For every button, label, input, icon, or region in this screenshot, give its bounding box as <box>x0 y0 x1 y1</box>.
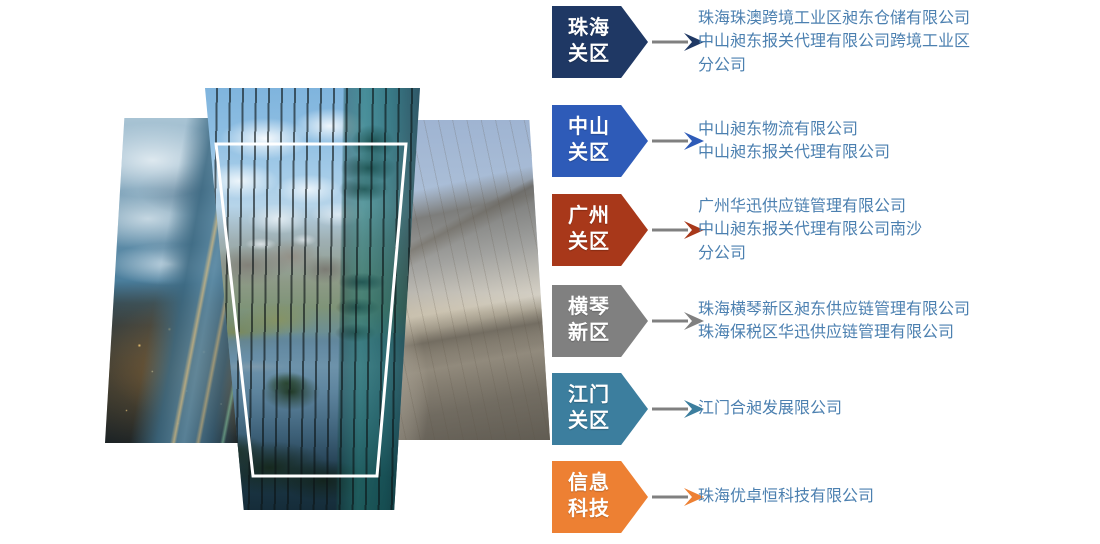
zone-badge-line-2: 关区 <box>568 230 610 256</box>
zone-badge-hengqin[interactable]: 横琴 新区 <box>552 285 648 357</box>
company-item: 中山昶东报关代理有限公司跨境工业区 <box>698 30 1098 53</box>
company-list-information-technology: 珠海优卓恒科技有限公司 <box>698 461 1098 533</box>
company-item: 广州华迅供应链管理有限公司 <box>698 195 1098 218</box>
company-item: 江门合昶发展限公司 <box>698 397 1098 420</box>
company-item: 中山昶东报关代理有限公司 <box>698 141 1098 164</box>
zone-badge-information-technology[interactable]: 信息 科技 <box>552 461 648 533</box>
company-list-guangzhou: 广州华迅供应链管理有限公司 中山昶东报关代理有限公司南沙 分公司 <box>698 187 1098 273</box>
company-item: 珠海珠澳跨境工业区昶东仓储有限公司 <box>698 7 1098 30</box>
company-list-hengqin: 珠海横琴新区昶东供应链管理有限公司 珠海保税区华迅供应链管理有限公司 <box>698 285 1098 357</box>
zone-badge-jiangmen[interactable]: 江门 关区 <box>552 373 648 445</box>
company-item: 分公司 <box>698 242 1098 265</box>
photo-collage <box>0 0 545 544</box>
zone-badge-line-2: 科技 <box>568 497 610 523</box>
zone-row-hengqin: 横琴 新区 珠海横琴新区昶东供应链管理有限公司 珠海保税区华迅供应链管理有限公司 <box>552 285 1100 357</box>
zone-badge-guangzhou[interactable]: 广州 关区 <box>552 194 648 266</box>
zone-badge-line-2: 关区 <box>568 409 610 435</box>
company-item: 分公司 <box>698 54 1098 77</box>
company-item: 珠海横琴新区昶东供应链管理有限公司 <box>698 298 1098 321</box>
zone-badge-line-1: 信息 <box>568 471 610 497</box>
zone-row-jiangmen: 江门 关区 江门合昶发展限公司 <box>552 373 1100 445</box>
zone-badge-line-2: 关区 <box>568 42 610 68</box>
zone-badge-line-2: 新区 <box>568 321 610 347</box>
zone-badge-line-2: 关区 <box>568 141 610 167</box>
zone-row-zhuhai: 珠海 关区 珠海珠澳跨境工业区昶东仓储有限公司 中山昶东报关代理有限公司跨境工业… <box>552 6 1100 78</box>
zone-badge-zhongshan[interactable]: 中山 关区 <box>552 105 648 177</box>
company-list-zhuhai: 珠海珠澳跨境工业区昶东仓储有限公司 中山昶东报关代理有限公司跨境工业区 分公司 <box>698 0 1098 85</box>
company-item: 珠海保税区华迅供应链管理有限公司 <box>698 321 1098 344</box>
company-item: 中山昶东物流有限公司 <box>698 118 1098 141</box>
zone-row-information-technology: 信息 科技 珠海优卓恒科技有限公司 <box>552 461 1100 533</box>
zone-badge-line-1: 中山 <box>568 115 610 141</box>
customs-zone-list: 珠海 关区 珠海珠澳跨境工业区昶东仓储有限公司 中山昶东报关代理有限公司跨境工业… <box>552 0 1100 544</box>
zone-row-guangzhou: 广州 关区 广州华迅供应链管理有限公司 中山昶东报关代理有限公司南沙 分公司 <box>552 194 1100 266</box>
zone-row-zhongshan: 中山 关区 中山昶东物流有限公司 中山昶东报关代理有限公司 <box>552 105 1100 177</box>
zone-badge-line-1: 江门 <box>568 383 610 409</box>
zone-badge-zhuhai[interactable]: 珠海 关区 <box>552 6 648 78</box>
company-item: 中山昶东报关代理有限公司南沙 <box>698 218 1098 241</box>
zone-badge-line-1: 珠海 <box>568 16 610 42</box>
company-item: 珠海优卓恒科技有限公司 <box>698 485 1098 508</box>
zone-badge-line-1: 横琴 <box>568 295 610 321</box>
company-list-zhongshan: 中山昶东物流有限公司 中山昶东报关代理有限公司 <box>698 105 1098 177</box>
mountain-lake-glass-tower-image <box>205 88 420 510</box>
company-list-jiangmen: 江门合昶发展限公司 <box>698 373 1098 445</box>
zone-badge-line-1: 广州 <box>568 204 610 230</box>
collage-panel-mountain-lake <box>205 88 420 510</box>
